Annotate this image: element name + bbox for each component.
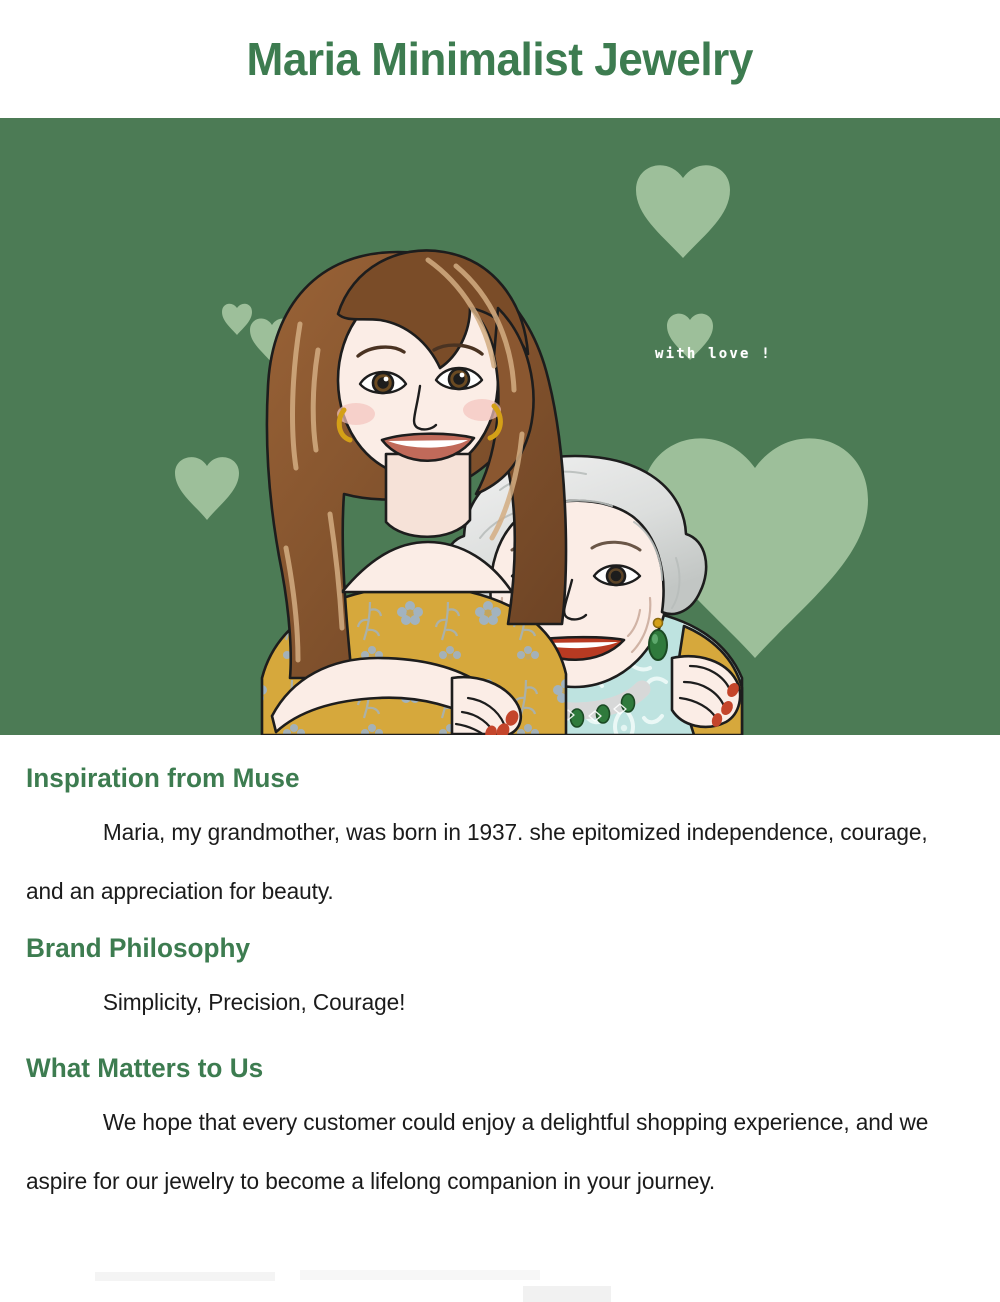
hero-artwork — [0, 118, 1000, 735]
section-body-what-matters-text: We hope that every customer could enjoy … — [26, 1109, 928, 1194]
page-title: Maria Minimalist Jewelry — [247, 36, 753, 82]
with-love-caption: with love ! — [655, 346, 772, 362]
section-body-what-matters: We hope that every customer could enjoy … — [26, 1093, 962, 1211]
section-body-inspiration: Maria, my grandmother, was born in 1937.… — [26, 803, 962, 921]
section-heading-what-matters: What Matters to Us — [26, 1055, 263, 1082]
section-heading-philosophy: Brand Philosophy — [26, 935, 250, 962]
hero-illustration: with love ! — [0, 118, 1000, 735]
sliver-shape-a — [95, 1272, 275, 1281]
product-description-page: Maria Minimalist Jewelry — [0, 0, 1000, 1302]
sliver-shape-c — [523, 1286, 611, 1302]
sliver-shape-b — [300, 1270, 540, 1280]
title-banner: Maria Minimalist Jewelry — [0, 0, 1000, 118]
next-image-sliver — [0, 1256, 1000, 1302]
section-heading-inspiration: Inspiration from Muse — [26, 765, 300, 792]
section-body-philosophy: Simplicity, Precision, Courage! — [26, 973, 962, 1032]
description-copy: Inspiration from Muse Maria, my grandmot… — [0, 735, 1000, 1302]
section-body-philosophy-text: Simplicity, Precision, Courage! — [103, 989, 405, 1015]
section-body-inspiration-text: Maria, my grandmother, was born in 1937.… — [26, 819, 928, 904]
